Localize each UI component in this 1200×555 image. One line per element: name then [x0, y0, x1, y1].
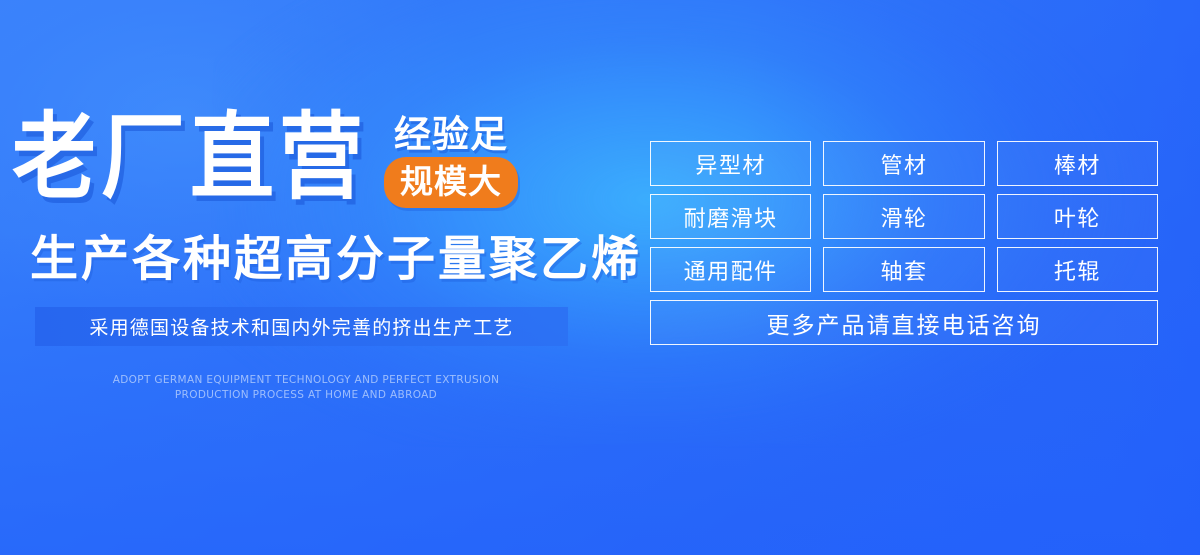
promo-banner: 老厂直营 经验足 规模大 生产各种超高分子量聚乙烯 采用德国设备技术和国内外完善… — [0, 0, 1200, 555]
more-products-label: 更多产品请直接电话咨询 — [767, 306, 1042, 340]
badge-experience: 经验足 — [394, 116, 508, 153]
more-products-contact-banner[interactable]: 更多产品请直接电话咨询 — [650, 300, 1158, 345]
product-tag-profile[interactable]: 异型材 — [650, 141, 811, 186]
product-tag-row: 通用配件 轴套 托辊 — [650, 247, 1158, 292]
product-tag-row: 异型材 管材 棒材 — [650, 141, 1158, 186]
tagline-text: 采用德国设备技术和国内外完善的挤出生产工艺 — [89, 313, 513, 340]
product-tag-label: 棒材 — [1054, 148, 1101, 180]
product-tag-pulley[interactable]: 滑轮 — [823, 194, 984, 239]
sub-headline: 生产各种超高分子量聚乙烯 — [30, 234, 642, 286]
product-tag-general-parts[interactable]: 通用配件 — [650, 247, 811, 292]
headline-column: 老厂直营 经验足 规模大 生产各种超高分子量聚乙烯 采用德国设备技术和国内外完善… — [0, 0, 612, 555]
product-tag-row: 耐磨滑块 滑轮 叶轮 — [650, 194, 1158, 239]
english-subtitle: ADOPT GERMAN EQUIPMENT TECHNOLOGY AND PE… — [0, 373, 612, 403]
english-subtitle-line1: ADOPT GERMAN EQUIPMENT TECHNOLOGY AND PE… — [0, 373, 612, 388]
product-tag-label: 滑轮 — [880, 201, 927, 233]
product-tag-label: 托辊 — [1054, 254, 1101, 286]
english-subtitle-line2: PRODUCTION PROCESS AT HOME AND ABROAD — [0, 388, 612, 403]
badge-scale-pill: 规模大 — [384, 157, 518, 208]
product-tag-idler-roller[interactable]: 托辊 — [997, 247, 1158, 292]
product-tag-grid: 异型材 管材 棒材 耐磨滑块 滑轮 叶轮 通用配件 — [650, 141, 1158, 345]
product-tag-pipe[interactable]: 管材 — [823, 141, 984, 186]
product-tag-rod[interactable]: 棒材 — [997, 141, 1158, 186]
product-tag-label: 通用配件 — [684, 254, 778, 286]
product-tag-label: 异型材 — [695, 148, 766, 180]
product-tag-bushing[interactable]: 轴套 — [823, 247, 984, 292]
headline-row: 老厂直营 经验足 规模大 — [12, 110, 518, 208]
badge-stack: 经验足 规模大 — [384, 116, 518, 208]
product-tag-label: 轴套 — [880, 254, 927, 286]
tagline-band: 采用德国设备技术和国内外完善的挤出生产工艺 — [35, 307, 568, 346]
product-tag-label: 管材 — [880, 148, 927, 180]
product-tag-label: 叶轮 — [1054, 201, 1101, 233]
product-tag-impeller[interactable]: 叶轮 — [997, 194, 1158, 239]
product-tag-wear-slider[interactable]: 耐磨滑块 — [650, 194, 811, 239]
product-tag-label: 耐磨滑块 — [684, 201, 778, 233]
main-headline: 老厂直营 — [12, 110, 368, 204]
